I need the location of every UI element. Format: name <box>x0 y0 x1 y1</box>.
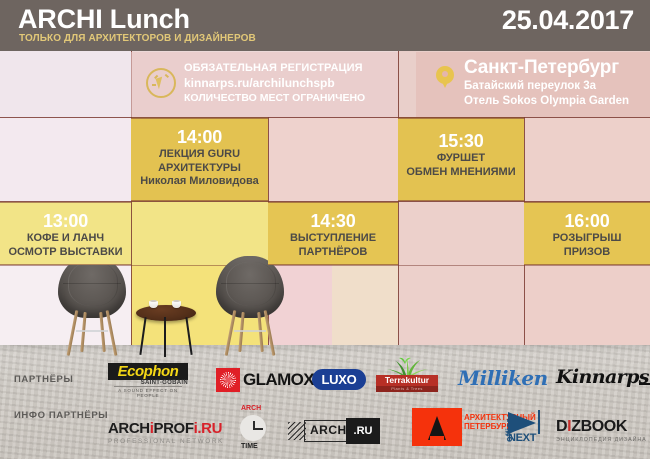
dizbook-tagline: ЭНЦИКЛОПЕДИЯ ДИЗАЙНА <box>556 436 650 444</box>
chair-leg <box>225 310 237 356</box>
logo-ecophon[interactable]: Ecophon SAINT-GOBAIN A SOUND EFFECT ON P… <box>108 363 188 393</box>
logo-archiprofi[interactable]: ARCHiPROFi.RU PROFESSIONAL NETWORK <box>108 420 224 446</box>
wall-panel-low-c <box>398 201 524 355</box>
officenext-play-icon <box>508 412 536 434</box>
logo-glamox[interactable]: GLAMOX <box>216 368 308 392</box>
location-address: Батайский переулок 3а <box>464 79 629 94</box>
clock-label-bottom: TIME <box>241 443 258 450</box>
archiprofi-tagline: PROFESSIONAL NETWORK <box>108 437 224 446</box>
location-block: Санкт-Петербург Батайский переулок 3а От… <box>416 52 650 117</box>
ecophon-rule <box>114 386 182 387</box>
slot-time: 14:30 <box>268 210 398 232</box>
slot-desc-line2: ОБМЕН МНЕНИЯМИ <box>398 166 524 180</box>
officenext-next-label: NEXT <box>508 432 536 444</box>
schedule-slot-1400[interactable]: 14:00 ЛЕКЦИЯ GURU АРХИТЕКТУРЫ Николая Ми… <box>131 118 268 201</box>
luxo-wordmark: LUXO <box>312 369 366 390</box>
cursor-arrow <box>156 76 169 90</box>
slot-speaker: Николая Миловидова <box>131 175 268 189</box>
schedule-slot-1300[interactable]: 13:00 КОФЕ И ЛАНЧ ОСМОТР ВЫСТАВКИ <box>0 202 131 265</box>
schedule-slot-1600[interactable]: 16:00 РОЗЫГРЫШ ПРИЗОВ <box>524 202 650 265</box>
slot-desc-line2: ОСМОТР ВЫСТАВКИ <box>0 246 131 260</box>
location-city: Санкт-Петербург <box>464 57 629 79</box>
glamox-wordmark: GLAMOX <box>243 370 314 390</box>
chair-crossbar <box>76 330 108 332</box>
table-leg <box>164 317 166 357</box>
slot-time: 15:30 <box>398 130 524 152</box>
logo-kinnarps[interactable]: Kinnarps <box>556 366 649 388</box>
chair-crossbar <box>234 330 266 332</box>
apeter-a-cut <box>430 436 444 446</box>
logo-luxo[interactable]: LUXO <box>312 369 366 390</box>
officenext-bar <box>538 410 540 434</box>
terrakultur-name: Terrakultur <box>376 375 438 386</box>
registration-heading: ОБЯЗАТЕЛЬНАЯ РЕГИСТРАЦИЯ <box>184 61 365 76</box>
logo-milliken[interactable]: Milliken <box>458 366 548 390</box>
slot-desc-line1: КОФЕ И ЛАНЧ <box>0 232 131 246</box>
location-text: Санкт-Петербург Батайский переулок 3а От… <box>464 57 629 109</box>
glamox-sun-icon <box>220 372 236 388</box>
slot-desc-line1: РОЗЫГРЫШ <box>524 232 650 246</box>
archiprofi-wordmark: ARCHiPROFi.RU <box>108 420 224 437</box>
coffee-cup <box>172 301 181 308</box>
registration-note: КОЛИЧЕСТВО МЕСТ ОГРАНИЧЕНО <box>184 91 365 106</box>
wall-joint-horizontal <box>0 117 650 118</box>
chair-leg <box>67 310 79 356</box>
click-cursor-icon <box>146 68 176 98</box>
chair-leg <box>106 310 118 356</box>
archiprofi-tld: .RU <box>197 420 222 437</box>
chair-left <box>58 256 126 356</box>
table-leg <box>139 317 146 355</box>
pin-hole <box>442 71 448 77</box>
terrakultur-sub: Plants & Trees <box>376 386 438 392</box>
archiprofi-arch: ARCH <box>108 420 150 437</box>
chair-leg <box>257 312 263 352</box>
dizbook-zbook: ZBOOK <box>571 418 627 435</box>
glamox-mark <box>216 368 240 392</box>
registration-url[interactable]: kinnarps.ru/archilunchspb <box>184 76 365 91</box>
location-venue: Отель Sokos Olympia Garden <box>464 94 629 109</box>
ecophon-slogan: A SOUND EFFECT ON PEOPLE <box>108 388 188 398</box>
page-title: ARCHI Lunch <box>18 4 190 34</box>
poster-header: ARCHI Lunch ТОЛЬКО ДЛЯ АРХИТЕКТОРОВ И ДИ… <box>0 0 650 51</box>
terrakultur-subtext: Plants & Trees <box>376 386 438 392</box>
archiru-tld: .RU <box>346 418 380 444</box>
slot-desc-line1: ВЫСТУПЛЕНИЕ <box>268 232 398 246</box>
dizbook-wordmark: DIZBOOK <box>556 418 650 436</box>
coffee-table <box>136 305 196 355</box>
chair-leg <box>99 312 105 352</box>
logo-office-next[interactable]: office NEXT <box>494 410 556 444</box>
wall-panel-top-left <box>0 51 131 117</box>
slot-time: 13:00 <box>0 210 131 232</box>
info-partners-label: ИНФО ПАРТНЁРЫ <box>14 410 108 421</box>
logo-dizbook[interactable]: DIZBOOK ЭНЦИКЛОПЕДИЯ ДИЗАЙНА <box>556 418 650 444</box>
clock-label-top: ARCH <box>241 405 261 412</box>
registration-text: ОБЯЗАТЕЛЬНАЯ РЕГИСТРАЦИЯ kinnarps.ru/arc… <box>184 61 365 106</box>
page-subtitle: ТОЛЬКО ДЛЯ АРХИТЕКТОРОВ И ДИЗАЙНЕРОВ <box>19 33 256 44</box>
chair-leg <box>238 312 244 352</box>
slot-desc-line2: АРХИТЕКТУРЫ <box>131 162 268 176</box>
chair-right <box>216 256 284 356</box>
wall-panel-mid-b <box>268 117 398 201</box>
cursor-spark <box>152 84 156 86</box>
chair-leg <box>264 310 276 356</box>
schedule-slot-1430[interactable]: 14:30 ВЫСТУПЛЕНИЕ ПАРТНЁРОВ <box>268 202 398 265</box>
chair-leg <box>80 312 86 352</box>
chair-seat <box>216 256 284 318</box>
logo-archi-ru[interactable]: ARCHI .RU <box>288 418 380 444</box>
slot-desc-line2: ПАРТНЁРОВ <box>268 246 398 260</box>
coffee-cup <box>149 301 158 308</box>
logo-archtime-clock[interactable]: ARCH TIME <box>230 405 276 451</box>
event-date-badge: 25.04.2017 <box>502 5 634 36</box>
archiru-tld-plate: .RU <box>346 418 380 444</box>
wall-panel-mid-d <box>524 117 650 201</box>
slot-time: 16:00 <box>524 210 650 232</box>
dizbook-d: D <box>556 418 567 435</box>
clock-hand <box>253 428 263 430</box>
registration-block[interactable]: ОБЯЗАТЕЛЬНАЯ РЕГИСТРАЦИЯ kinnarps.ru/arc… <box>131 52 398 117</box>
slot-desc-line1: ФУРШЕТ <box>398 152 524 166</box>
partners-label: ПАРТНЁРЫ <box>14 374 73 385</box>
map-pin-icon <box>436 66 454 84</box>
poster-root: ARCHI Lunch ТОЛЬКО ДЛЯ АРХИТЕКТОРОВ И ДИ… <box>0 0 650 459</box>
info-band: ОБЯЗАТЕЛЬНАЯ РЕГИСТРАЦИЯ kinnarps.ru/arc… <box>131 52 650 117</box>
schedule-slot-1530[interactable]: 15:30 ФУРШЕТ ОБМЕН МНЕНИЯМИ <box>398 118 524 201</box>
ecophon-wordmark: Ecophon <box>108 363 188 380</box>
logo-terrakultur[interactable]: Terrakultur Plants & Trees <box>376 358 438 392</box>
archiru-wordmark: ARCHI <box>310 423 351 437</box>
archiprofi-prof: PROF <box>154 420 194 437</box>
terrakultur-wordmark: Terrakultur <box>376 375 438 386</box>
wall-panel-mid-left <box>0 117 131 201</box>
slot-desc-line1: ЛЕКЦИЯ GURU <box>131 148 268 162</box>
table-leg <box>185 317 192 355</box>
chair-seat <box>58 256 126 318</box>
slot-desc-line2: ПРИЗОВ <box>524 246 650 260</box>
slot-time: 14:00 <box>131 126 268 148</box>
